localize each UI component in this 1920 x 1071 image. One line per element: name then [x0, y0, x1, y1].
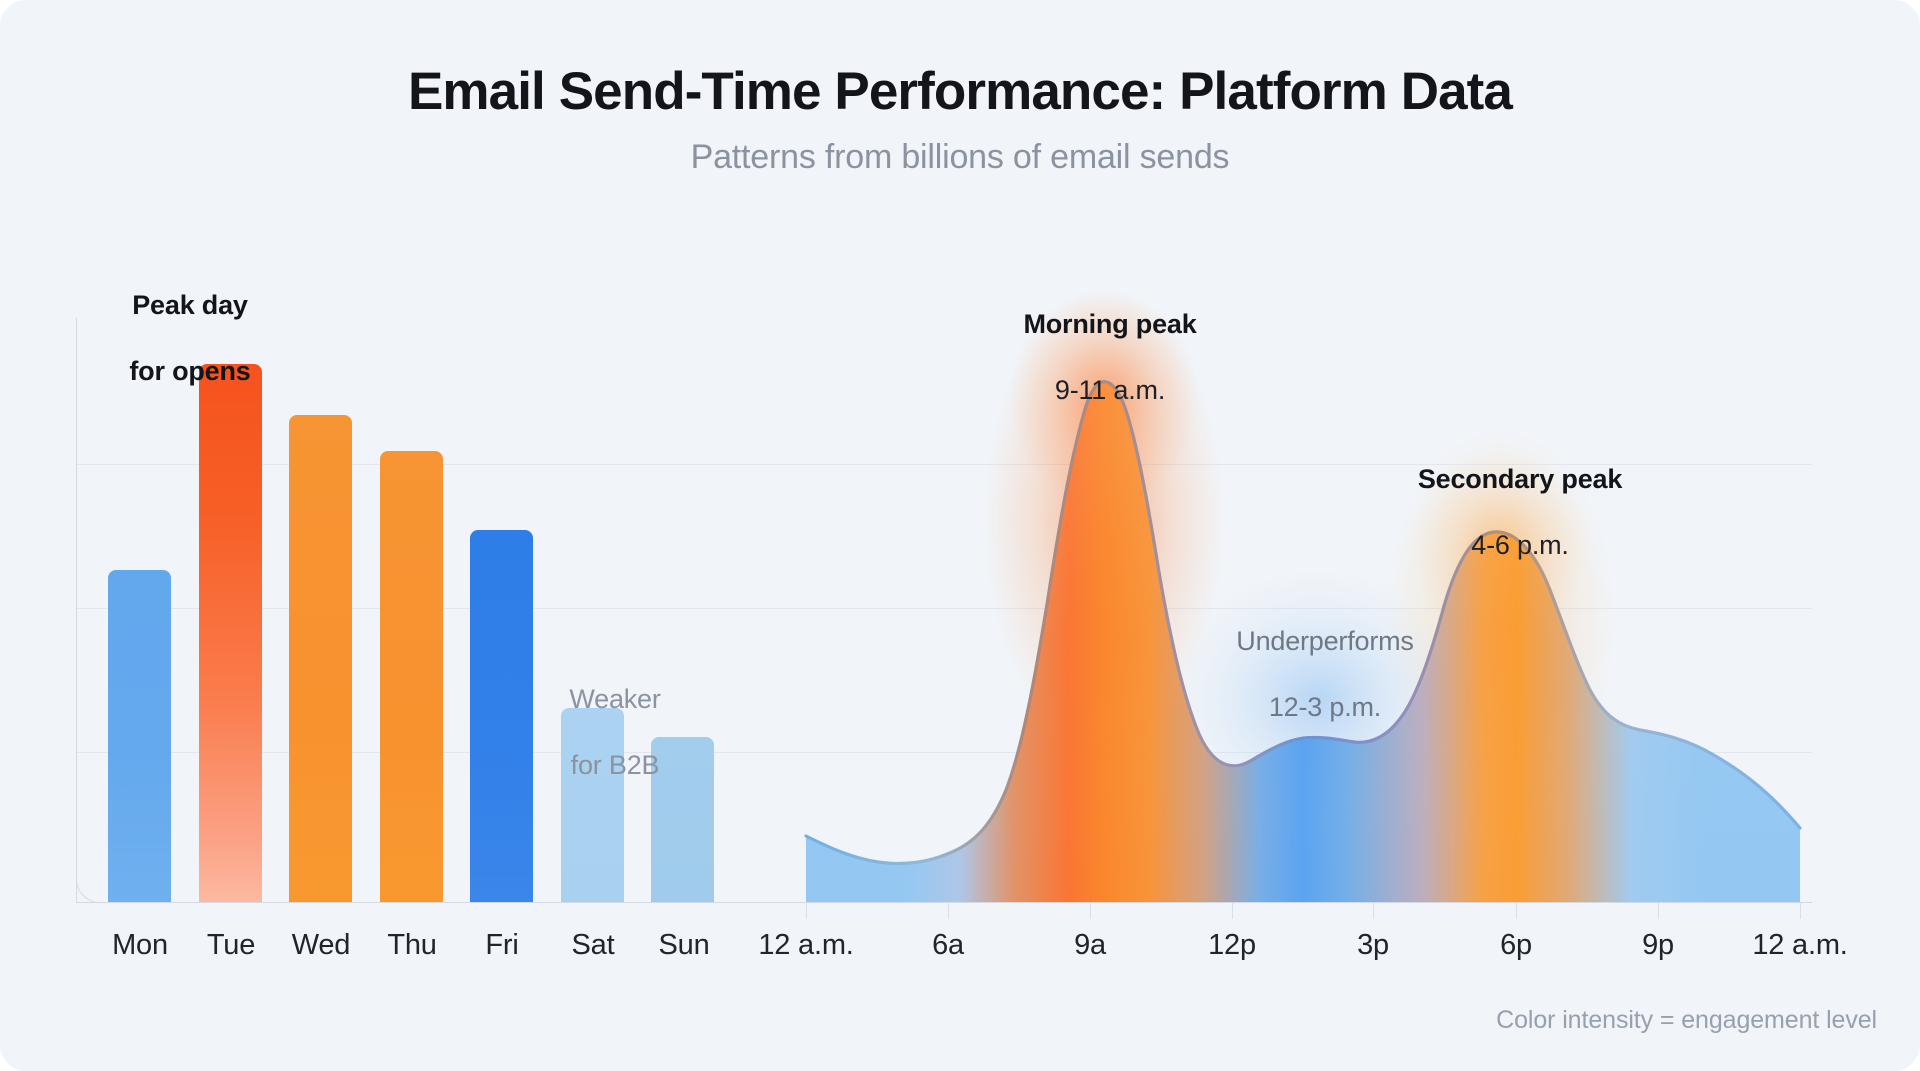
tickmark	[948, 903, 949, 919]
annotation-weaker-line2: for B2B	[495, 749, 735, 782]
annotation-under-line2: 12-3 p.m.	[1125, 691, 1525, 724]
annotation-peak-day-line2: for opens	[30, 355, 350, 388]
color-intensity-legend-note: Color intensity = engagement level	[1496, 1006, 1877, 1035]
bar-mon[interactable]	[108, 570, 171, 902]
tickmark	[1516, 903, 1517, 919]
annotation-under-line1: Underperforms	[1125, 625, 1525, 658]
annotation-weaker-b2b: Weaker for B2B	[495, 650, 735, 815]
axis-label-9a: 9a	[1030, 929, 1150, 962]
bar-thu[interactable]	[380, 451, 443, 902]
tickmark	[1232, 903, 1233, 919]
axis-label-sun: Sun	[624, 929, 744, 962]
bar-wed[interactable]	[289, 415, 352, 902]
axis-label-12am-start: 12 a.m.	[736, 929, 876, 962]
annotation-peak-day: Peak day for opens	[30, 256, 350, 421]
axis-label-12am-end: 12 a.m.	[1730, 929, 1870, 962]
annotation-secondary-line1: Secondary peak	[1300, 463, 1740, 496]
annotation-underperforms: Underperforms 12-3 p.m.	[1125, 592, 1525, 757]
annotation-morning-line2: 9-11 a.m.	[890, 374, 1330, 407]
tickmark	[1090, 903, 1091, 919]
tickmark	[1658, 903, 1659, 919]
annotation-secondary-line2: 4-6 p.m.	[1300, 529, 1740, 562]
tickmark	[1373, 903, 1374, 919]
tickmark	[1800, 903, 1801, 919]
bar-tue[interactable]	[199, 364, 262, 902]
axis-label-9p: 9p	[1598, 929, 1718, 962]
annotation-morning-line1: Morning peak	[890, 308, 1330, 341]
tickmark	[806, 903, 807, 919]
chart-card: Email Send-Time Performance: Platform Da…	[0, 0, 1920, 1071]
annotation-weaker-line1: Weaker	[495, 683, 735, 716]
axis-label-3p: 3p	[1313, 929, 1433, 962]
annotation-morning-peak: Morning peak 9-11 a.m.	[890, 275, 1330, 440]
axis-label-6a: 6a	[888, 929, 1008, 962]
annotation-peak-day-line1: Peak day	[30, 289, 350, 322]
axis-label-12p: 12p	[1172, 929, 1292, 962]
axis-label-6p: 6p	[1456, 929, 1576, 962]
annotation-secondary-peak: Secondary peak 4-6 p.m.	[1300, 430, 1740, 595]
plot-area: Peak day for opens Weaker for B2B Mornin…	[0, 0, 1920, 1071]
